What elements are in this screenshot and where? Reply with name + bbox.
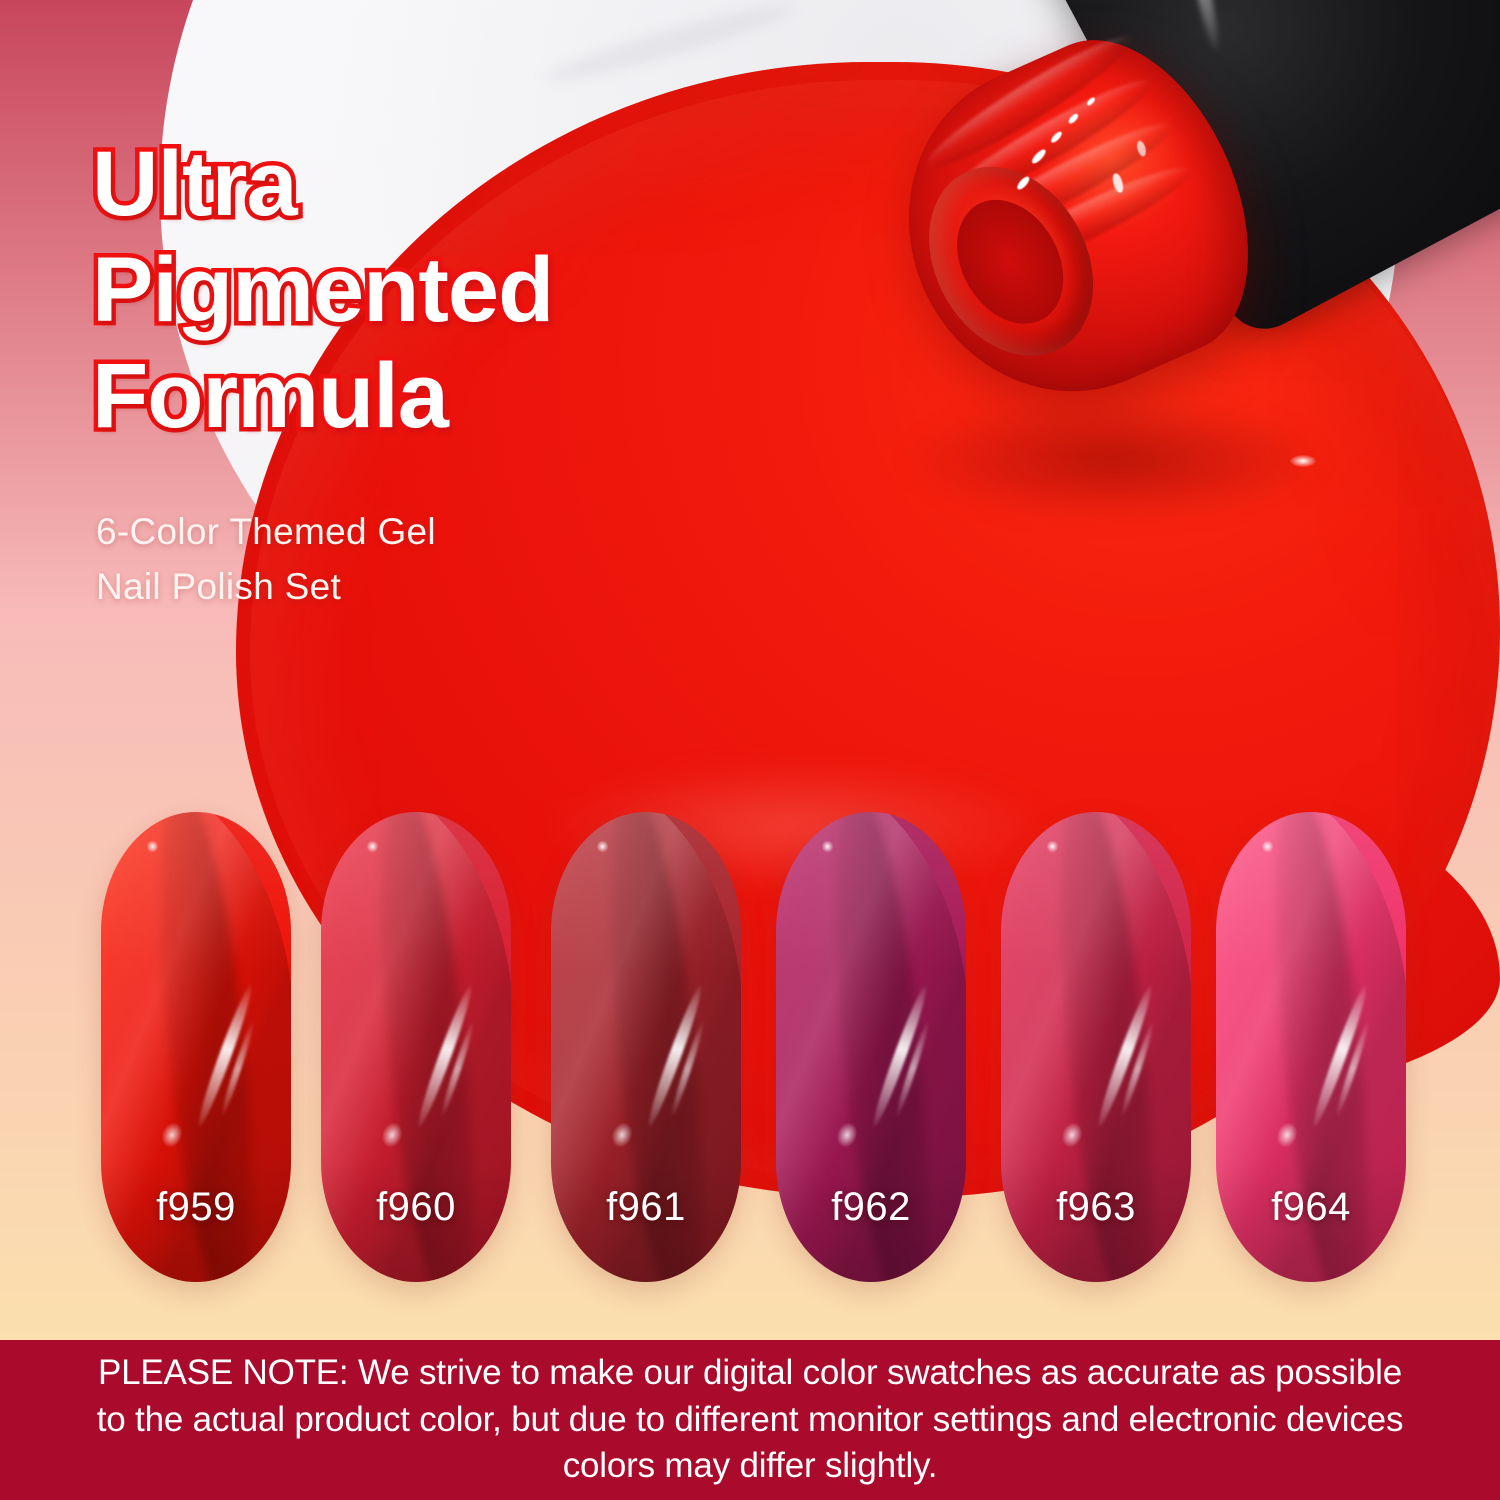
page-title: Ultra Pigmented Formula: [92, 132, 852, 449]
color-swatch-f963[interactable]: f963: [1001, 812, 1191, 1282]
color-swatch-f961[interactable]: f961: [551, 812, 741, 1282]
swatch-label: f963: [1001, 1185, 1191, 1230]
color-swatch-f962[interactable]: f962: [776, 812, 966, 1282]
page-subtitle: 6-Color Themed Gel Nail Polish Set: [96, 505, 696, 615]
subtitle-line-1: 6-Color Themed Gel: [96, 505, 696, 560]
swatch-bubble-highlight: [822, 840, 833, 853]
swatch-label: f959: [101, 1185, 291, 1230]
subtitle-line-2: Nail Polish Set: [96, 560, 696, 615]
color-swatch-f964[interactable]: f964: [1216, 812, 1406, 1282]
swatch-label: f964: [1216, 1185, 1406, 1230]
bottle-specular-dot: [1337, 0, 1372, 1]
bottle-mouth-inner: [936, 181, 1085, 343]
product-marketing-poster: -Lasting Ultra Pigmented: [0, 0, 1500, 1500]
color-swatch-f960[interactable]: f960: [321, 812, 511, 1282]
disclaimer-text: PLEASE NOTE: We strive to make our digit…: [80, 1350, 1420, 1490]
swatch-label: f962: [776, 1185, 966, 1230]
swatch-bubble-highlight: [1262, 840, 1273, 853]
bottle-highlight: [1182, 0, 1223, 52]
nail-polish-bottle: -Lasting: [880, 0, 1500, 550]
swatch-label: f961: [551, 1185, 741, 1230]
color-swatch-row: f959 f960 f961: [0, 812, 1500, 1312]
headline-line-1: Ultra: [92, 132, 852, 238]
disclaimer-banner: PLEASE NOTE: We strive to make our digit…: [0, 1340, 1500, 1500]
swatch-bubble-highlight: [1047, 840, 1058, 853]
polish-sparkle-highlight: [1290, 455, 1316, 467]
headline-line-2: Pigmented: [92, 238, 852, 344]
swatch-bubble-highlight: [367, 840, 378, 853]
swatch-bubble-highlight: [147, 840, 158, 853]
swatch-label: f960: [321, 1185, 511, 1230]
swatch-bubble-highlight: [597, 840, 608, 853]
headline-line-3: Formula: [92, 344, 852, 450]
color-swatch-f959[interactable]: f959: [101, 812, 291, 1282]
